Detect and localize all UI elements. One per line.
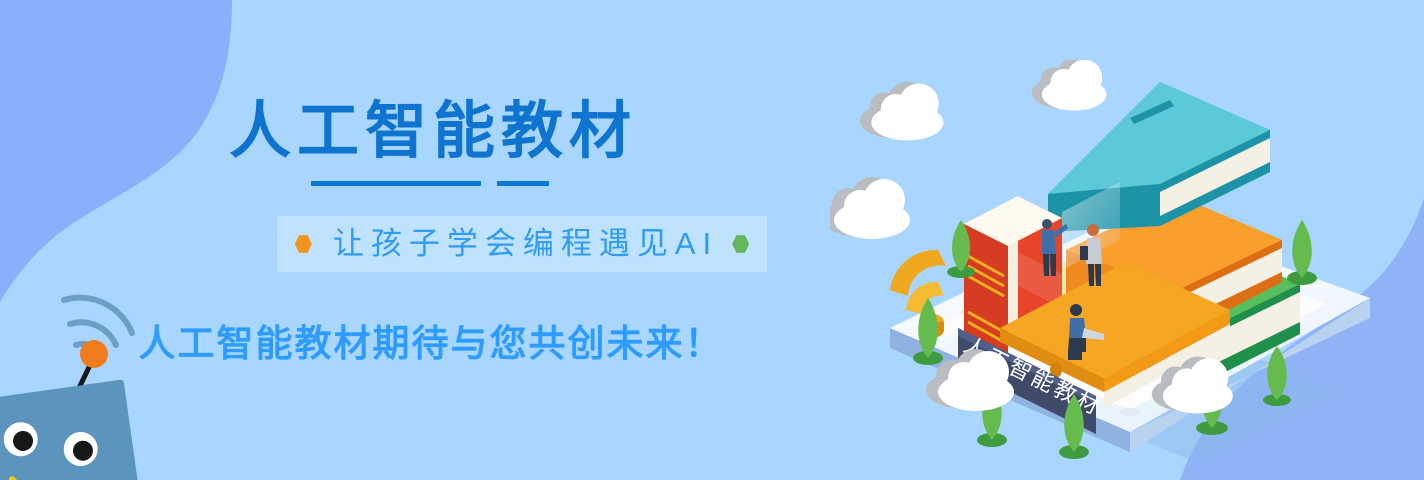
promo-banner: 人工智能教材 — [0, 0, 1424, 480]
robot-icon — [0, 240, 196, 480]
person-bag — [1080, 246, 1088, 260]
device-speaker — [1120, 408, 1140, 416]
isometric-education-illustration: 人工智能教材 — [830, 60, 1424, 480]
robot-antenna-ball — [80, 340, 108, 368]
